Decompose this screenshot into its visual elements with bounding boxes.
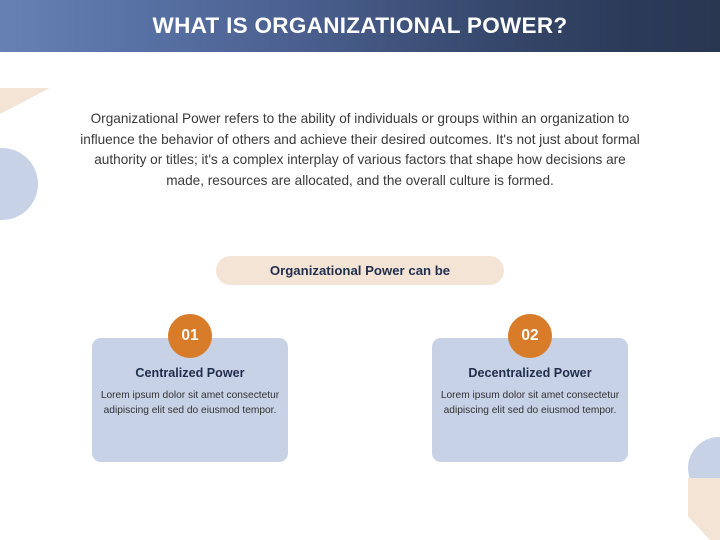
card-centralized-power[interactable]: 01 Centralized Power Lorem ipsum dolor s… <box>92 338 288 462</box>
card-title: Decentralized Power <box>432 366 628 380</box>
slide-canvas: WHAT IS ORGANIZATIONAL POWER? Organizati… <box>0 0 720 540</box>
decor-triangle-top-left <box>0 88 50 138</box>
slide-header-bar: WHAT IS ORGANIZATIONAL POWER? <box>0 0 720 52</box>
intro-paragraph: Organizational Power refers to the abili… <box>76 109 644 191</box>
card-number-label: 01 <box>181 328 198 344</box>
card-number-label: 02 <box>521 328 538 344</box>
card-body-text: Lorem ipsum dolor sit amet consectetur a… <box>100 388 280 419</box>
card-decentralized-power[interactable]: 02 Decentralized Power Lorem ipsum dolor… <box>432 338 628 462</box>
section-pill-label: Organizational Power can be <box>270 263 450 278</box>
decor-circle-left <box>0 148 38 220</box>
decor-pentagon-bottom-right <box>688 478 720 540</box>
page-title: WHAT IS ORGANIZATIONAL POWER? <box>153 15 568 38</box>
card-title: Centralized Power <box>92 366 288 380</box>
card-number-badge: 01 <box>168 314 212 358</box>
section-pill-badge: Organizational Power can be <box>216 256 504 285</box>
card-number-badge: 02 <box>508 314 552 358</box>
card-body-text: Lorem ipsum dolor sit amet consectetur a… <box>440 388 620 419</box>
